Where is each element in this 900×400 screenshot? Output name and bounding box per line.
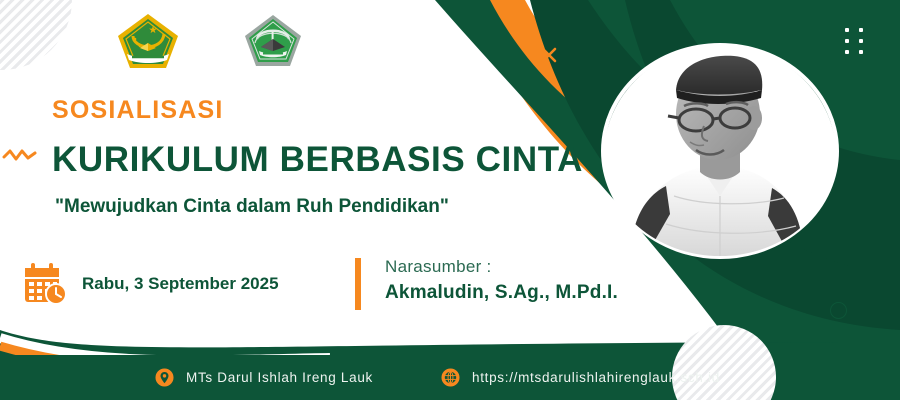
school-logo (243, 13, 303, 68)
footer-website-text: https://mtsdarulishlahirenglauk.sch.id (472, 370, 720, 385)
footer-website[interactable]: https://mtsdarulishlahirenglauk.sch.id (441, 368, 720, 387)
photo-portrait-icon (604, 46, 836, 256)
dot-grid-icon (845, 28, 863, 54)
globe-icon (441, 368, 460, 387)
speaker-photo (600, 42, 840, 260)
calendar-clock-icon (22, 262, 70, 306)
footer-location-text: MTs Darul Ishlah Ireng Lauk (186, 370, 373, 385)
x-mark-icon (539, 45, 559, 65)
kemenag-logo (116, 12, 180, 70)
footer-items: MTs Darul Ishlah Ireng Lauk https://mtsd… (0, 355, 900, 400)
date-row: Rabu, 3 September 2025 (22, 262, 279, 306)
subtitle-text: "Mewujudkan Cinta dalam Ruh Pendidikan" (55, 196, 449, 218)
ring-outline-icon (830, 302, 847, 319)
footer-location: MTs Darul Ishlah Ireng Lauk (155, 368, 373, 387)
kicker-text: SOSIALISASI (52, 96, 224, 125)
date-text: Rabu, 3 September 2025 (82, 274, 279, 294)
map-pin-icon (155, 368, 174, 387)
speaker-name: Akmaludin, S.Ag., M.Pd.I. (385, 282, 618, 304)
page-title: KURIKULUM BERBASIS CINTA (52, 140, 583, 180)
event-banner: SOSIALISASI KURIKULUM BERBASIS CINTA "Me… (0, 0, 900, 400)
squiggle-icon (2, 145, 38, 165)
speaker-block: Narasumber : Akmaludin, S.Ag., M.Pd.I. (385, 257, 618, 304)
stripe-circle-top-left (0, 0, 72, 70)
photo-clip (604, 46, 836, 256)
speaker-label: Narasumber : (385, 257, 618, 277)
vertical-divider (355, 258, 361, 310)
